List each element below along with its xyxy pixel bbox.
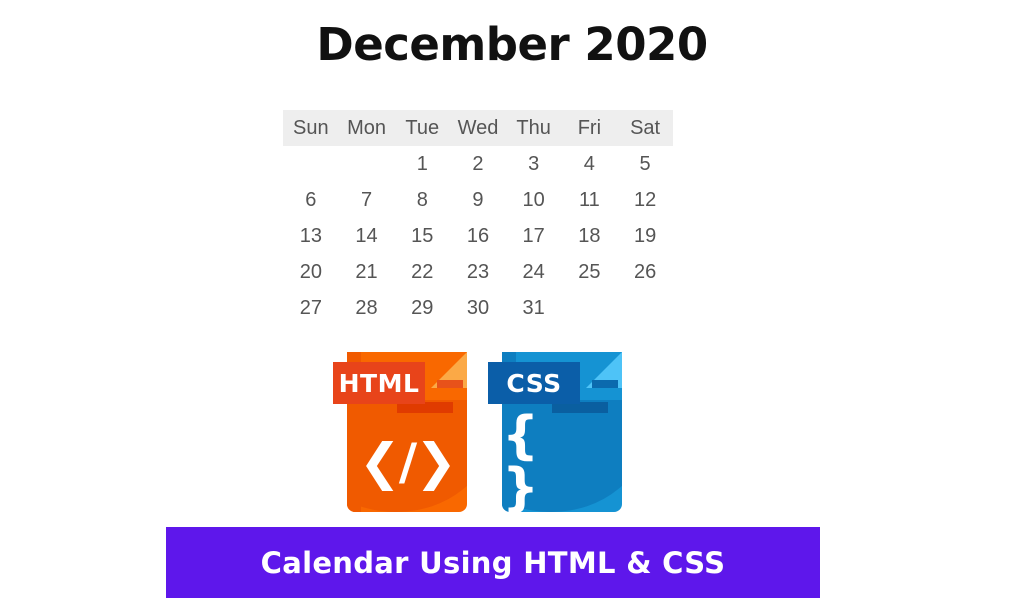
calendar-day-cell[interactable]: 17 [506,218,562,254]
code-brackets-icon: ❮/❯ [347,424,467,500]
calendar-day-cell[interactable]: 1 [394,146,450,182]
calendar-day-cell[interactable]: 26 [617,254,673,290]
title-banner: Calendar Using HTML & CSS [166,527,820,598]
calendar-day-cell[interactable]: 24 [506,254,562,290]
calendar-day-cell[interactable]: 5 [617,146,673,182]
calendar-day-cell[interactable]: 11 [562,182,618,218]
banner-label: Calendar Using HTML & CSS [261,546,726,580]
css-file-accent-bar [592,380,618,388]
calendar-day-cell[interactable]: 22 [394,254,450,290]
calendar-week-row: 1 2 3 4 5 [283,146,673,182]
weekday-header-thu: Thu [506,110,562,146]
calendar-day-cell [562,290,618,326]
calendar-day-cell[interactable]: 6 [283,182,339,218]
html-file-accent-bar [437,380,463,388]
calendar-week-row: 13 14 15 16 17 18 19 [283,218,673,254]
calendar-day-cell[interactable]: 8 [394,182,450,218]
file-icons-row: HTML ❮/❯ CSS { } [0,340,1024,520]
calendar-day-cell[interactable]: 25 [562,254,618,290]
calendar-day-cell[interactable]: 30 [450,290,506,326]
weekday-header-fri: Fri [562,110,618,146]
calendar-day-cell[interactable]: 3 [506,146,562,182]
calendar-day-cell[interactable]: 20 [283,254,339,290]
calendar-day-cell[interactable]: 23 [450,254,506,290]
calendar-day-cell[interactable]: 29 [394,290,450,326]
calendar-day-cell [283,146,339,182]
calendar-day-cell[interactable]: 12 [617,182,673,218]
weekday-header-mon: Mon [339,110,395,146]
calendar-day-cell [617,290,673,326]
calendar-table: Sun Mon Tue Wed Thu Fri Sat 1 2 3 4 5 6 [283,110,673,326]
html-file-badge: HTML [333,362,425,404]
calendar-day-cell[interactable]: 2 [450,146,506,182]
calendar-week-row: 6 7 8 9 10 11 12 [283,182,673,218]
calendar-day-cell[interactable]: 19 [617,218,673,254]
calendar-day-cell[interactable]: 10 [506,182,562,218]
html-file-icon: HTML ❮/❯ [333,340,481,512]
calendar-week-row: 20 21 22 23 24 25 26 [283,254,673,290]
calendar-day-cell[interactable]: 31 [506,290,562,326]
css-file-badge: CSS [488,362,580,404]
calendar-day-cell[interactable]: 14 [339,218,395,254]
calendar-day-cell[interactable]: 27 [283,290,339,326]
calendar-day-cell[interactable]: 15 [394,218,450,254]
calendar-day-cell[interactable]: 18 [562,218,618,254]
calendar-day-cell[interactable]: 21 [339,254,395,290]
weekday-header-tue: Tue [394,110,450,146]
calendar-day-cell[interactable]: 4 [562,146,618,182]
calendar-day-cell[interactable]: 16 [450,218,506,254]
calendar-day-cell [339,146,395,182]
curly-braces-icon: { } [502,424,622,500]
weekday-header-sun: Sun [283,110,339,146]
weekday-header-sat: Sat [617,110,673,146]
calendar-day-cell[interactable]: 13 [283,218,339,254]
calendar-day-cell[interactable]: 9 [450,182,506,218]
page-title: December 2020 [0,22,1024,67]
calendar-widget: Sun Mon Tue Wed Thu Fri Sat 1 2 3 4 5 6 [283,110,673,326]
calendar-day-cell[interactable]: 7 [339,182,395,218]
calendar-week-row: 27 28 29 30 31 [283,290,673,326]
css-file-icon: CSS { } [488,340,636,512]
calendar-header-row: Sun Mon Tue Wed Thu Fri Sat [283,110,673,146]
calendar-day-cell[interactable]: 28 [339,290,395,326]
weekday-header-wed: Wed [450,110,506,146]
